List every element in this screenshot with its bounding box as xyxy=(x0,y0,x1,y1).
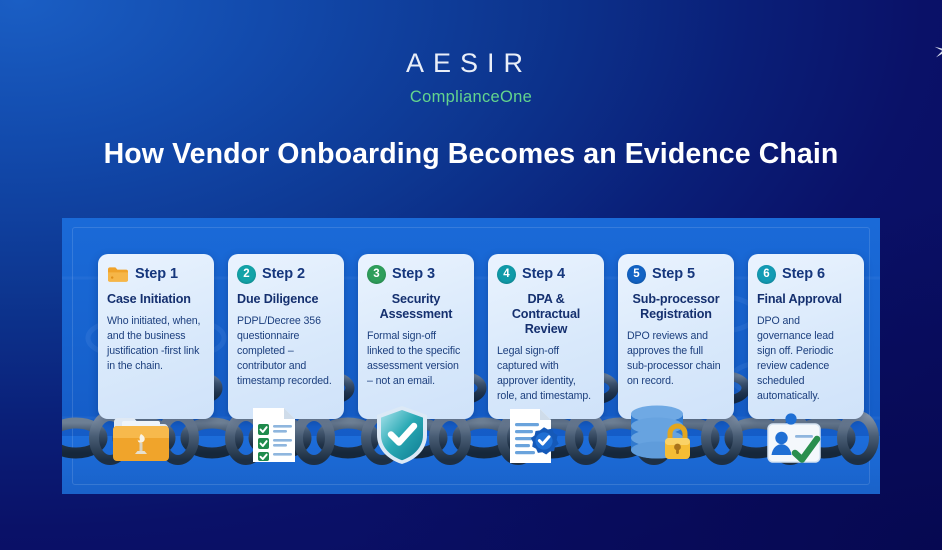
brand-product: ComplianceOne xyxy=(0,88,942,107)
step-number-badge-4: 4 xyxy=(497,265,516,284)
step-card-3-header: 3 Step 3 xyxy=(367,263,465,285)
step-card-5-title: Sub-processor Registration xyxy=(627,292,725,322)
step-card-4[interactable]: 4 Step 4 DPA & Contractual Review Legal … xyxy=(488,254,604,419)
step-card-4-step-label: Step 4 xyxy=(522,266,565,282)
step-card-5-header: 5 Step 5 xyxy=(627,263,725,285)
step-card-5[interactable]: 5 Step 5 Sub-processor Registration DPO … xyxy=(618,254,734,419)
step-card-1-title: Case Initiation xyxy=(107,292,205,307)
step-card-1-description: Who initiated, when, and the business ju… xyxy=(107,314,205,374)
step-card-2-description: PDPL/Decree 356 questionnaire completed … xyxy=(237,314,335,389)
step-card-3-description: Formal sign-off linked to the specific a… xyxy=(367,329,465,389)
step-card-4-header: 4 Step 4 xyxy=(497,263,595,285)
step-card-6-header: 6 Step 6 xyxy=(757,263,855,285)
step-card-3-step-label: Step 3 xyxy=(392,266,435,282)
infographic-canvas: AESIR ComplianceOne How Vendor Onboardin… xyxy=(0,0,942,550)
step-card-2[interactable]: 2 Step 2 Due Diligence PDPL/Decree 356 q… xyxy=(228,254,344,419)
step-number-badge-6: 6 xyxy=(757,265,776,284)
step-number-badge-2: 2 xyxy=(237,265,256,284)
step-card-2-step-label: Step 2 xyxy=(262,266,305,282)
spark-icon xyxy=(933,39,942,65)
step-card-3-title: Security Assessment xyxy=(367,292,465,322)
step-card-3[interactable]: 3 Step 3 Security Assessment Formal sign… xyxy=(358,254,474,419)
step-card-4-description: Legal sign-off captured with approver id… xyxy=(497,344,595,404)
step-card-1[interactable]: Step 1 Case Initiation Who initiated, wh… xyxy=(98,254,214,419)
folder-icon xyxy=(107,266,129,283)
step-card-6[interactable]: 6 Step 6 Final Approval DPO and governan… xyxy=(748,254,864,419)
step-card-2-title: Due Diligence xyxy=(237,292,335,307)
step-card-1-header: Step 1 xyxy=(107,263,205,285)
brand-lockup: AESIR ComplianceOne xyxy=(0,48,942,107)
step-number-badge-5: 5 xyxy=(627,265,646,284)
step-card-2-header: 2 Step 2 xyxy=(237,263,335,285)
step-card-6-description: DPO and governance lead sign off. Period… xyxy=(757,314,855,404)
step-card-6-title: Final Approval xyxy=(757,292,855,307)
step-card-5-description: DPO reviews and approves the full sub-pr… xyxy=(627,329,725,389)
page-title: How Vendor Onboarding Becomes an Evidenc… xyxy=(0,138,942,171)
step-number-badge-3: 3 xyxy=(367,265,386,284)
evidence-chain-panel: Step 1 Case Initiation Who initiated, wh… xyxy=(62,218,880,494)
step-card-4-title: DPA & Contractual Review xyxy=(497,292,595,337)
step-card-1-step-label: Step 1 xyxy=(135,266,178,282)
brand-name: AESIR xyxy=(406,48,536,79)
step-card-6-step-label: Step 6 xyxy=(782,266,825,282)
step-card-5-step-label: Step 5 xyxy=(652,266,695,282)
